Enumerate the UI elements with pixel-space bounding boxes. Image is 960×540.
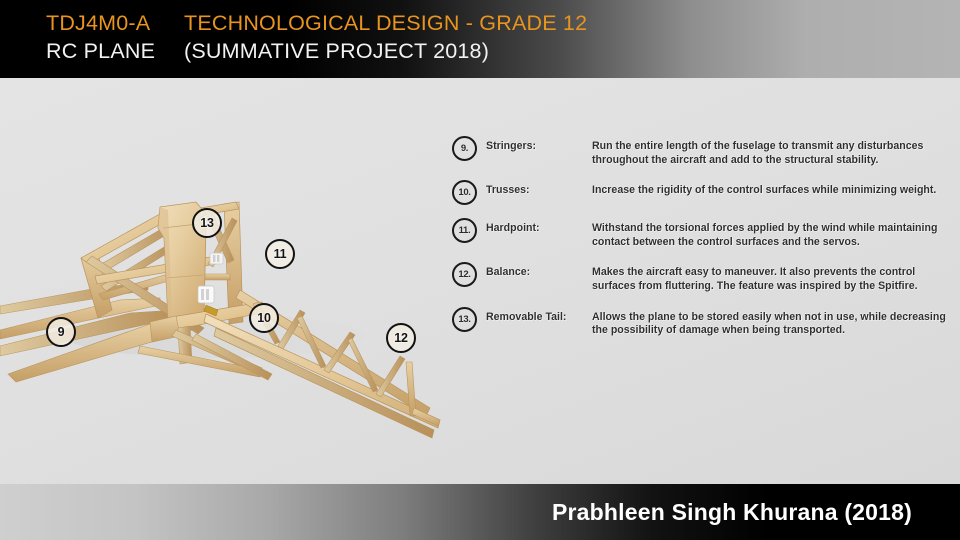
legend-label: Balance: (486, 266, 586, 279)
slide-header: TDJ4M0-A RC PLANE TECHNOLOGICAL DESIGN -… (0, 0, 960, 78)
header-right-column: TECHNOLOGICAL DESIGN - GRADE 12 (SUMMATI… (184, 9, 587, 65)
legend-number: 10. (458, 187, 470, 198)
callout-number: 13 (200, 216, 214, 230)
presentation-slide: TDJ4M0-A RC PLANE TECHNOLOGICAL DESIGN -… (0, 0, 960, 540)
plane-frame-illustration (0, 78, 450, 484)
legend-number-badge: 12. (452, 262, 477, 287)
legend-item-balance: 12. Balance: Makes the aircraft easy to … (452, 266, 952, 293)
legend-number: 9. (461, 143, 468, 154)
header-title-block: TDJ4M0-A RC PLANE TECHNOLOGICAL DESIGN -… (46, 9, 587, 65)
legend-number-badge: 10. (452, 180, 477, 205)
legend-item-stringers: 9. Stringers: Run the entire length of t… (452, 140, 952, 167)
legend-item-trusses: 10. Trusses: Increase the rigidity of th… (452, 184, 952, 205)
header-left-column: TDJ4M0-A RC PLANE (46, 9, 184, 65)
legend-number: 13. (458, 314, 470, 325)
legend-description: Makes the aircraft easy to maneuver. It … (592, 266, 952, 293)
legend-description: Run the entire length of the fuselage to… (592, 140, 952, 167)
callout-number: 9 (58, 325, 65, 339)
slide-body: 9 10 11 12 13 9. Stringers: Run the enti… (0, 78, 960, 484)
legend-number: 12. (458, 269, 470, 280)
legend-label: Removable Tail: (486, 311, 586, 324)
legend-number: 11. (459, 225, 471, 236)
model-callout-13[interactable]: 13 (192, 208, 222, 238)
legend-description: Allows the plane to be stored easily whe… (592, 311, 952, 338)
legend-label: Hardpoint: (486, 222, 586, 235)
legend-number-badge: 9. (452, 136, 477, 161)
legend-item-hardpoint: 11. Hardpoint: Withstand the torsional f… (452, 222, 952, 249)
project-name: RC PLANE (46, 37, 184, 65)
slide-footer: Prabhleen Singh Khurana (2018) (0, 484, 960, 540)
legend-label: Stringers: (486, 140, 586, 153)
callout-number: 11 (274, 247, 287, 261)
model-callout-9[interactable]: 9 (46, 317, 76, 347)
course-title: TECHNOLOGICAL DESIGN - GRADE 12 (184, 9, 587, 37)
legend-number-badge: 11. (452, 218, 477, 243)
callout-number: 12 (394, 331, 408, 345)
author-credit: Prabhleen Singh Khurana (2018) (552, 499, 912, 526)
model-callout-12[interactable]: 12 (386, 323, 416, 353)
legend-number-badge: 13. (452, 307, 477, 332)
legend-label: Trusses: (486, 184, 586, 197)
model-callout-11[interactable]: 11 (265, 239, 295, 269)
callout-number: 10 (257, 311, 271, 325)
legend-description: Withstand the torsional forces applied b… (592, 222, 952, 249)
rc-plane-model-render: 9 10 11 12 13 (0, 78, 450, 484)
legend-item-removable-tail: 13. Removable Tail: Allows the plane to … (452, 311, 952, 338)
legend-description: Increase the rigidity of the control sur… (592, 184, 952, 198)
course-code: TDJ4M0-A (46, 9, 184, 37)
assignment-subtitle: (SUMMATIVE PROJECT 2018) (184, 37, 587, 65)
model-callout-10[interactable]: 10 (249, 303, 279, 333)
feature-legend-list: 9. Stringers: Run the entire length of t… (452, 140, 952, 355)
